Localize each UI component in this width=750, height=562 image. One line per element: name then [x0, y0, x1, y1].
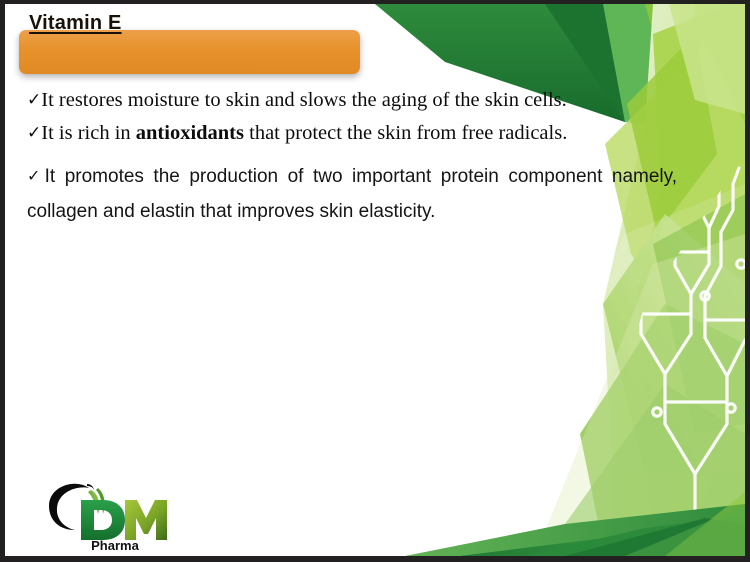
- title-plate: [19, 30, 360, 74]
- page-title: Vitamin E: [29, 12, 122, 35]
- list-item-text-tail: that protect the skin from free radicals…: [244, 122, 567, 144]
- logo-subtitle: Pharma: [91, 538, 139, 552]
- slide-canvas: Vitamin E ✓It restores moisture to skin …: [5, 4, 745, 556]
- logo-letter-m: [125, 500, 167, 540]
- check-icon: ✓: [27, 90, 41, 110]
- brand-logo: Pharma: [41, 478, 169, 552]
- list-item: ✓It restores moisture to skin and slows …: [27, 90, 677, 111]
- list-item: ✓It promotes the production of two impor…: [27, 159, 677, 229]
- list-item: ✓It is rich in antioxidants that protect…: [27, 123, 677, 144]
- slide-root: Vitamin E ✓It restores moisture to skin …: [0, 0, 750, 562]
- list-item-text: It promotes the production of two import…: [27, 166, 677, 222]
- check-icon: ✓: [27, 123, 41, 143]
- decorative-green-graphics: [5, 4, 745, 556]
- check-icon: ✓: [27, 166, 45, 185]
- list-item-text: It restores moisture to skin and slows t…: [41, 89, 567, 111]
- logo-letter-d: [81, 500, 125, 540]
- list-item-emphasis: antioxidants: [136, 122, 244, 144]
- list-item-text: It is rich in: [41, 122, 136, 144]
- content-body: ✓It restores moisture to skin and slows …: [27, 90, 677, 229]
